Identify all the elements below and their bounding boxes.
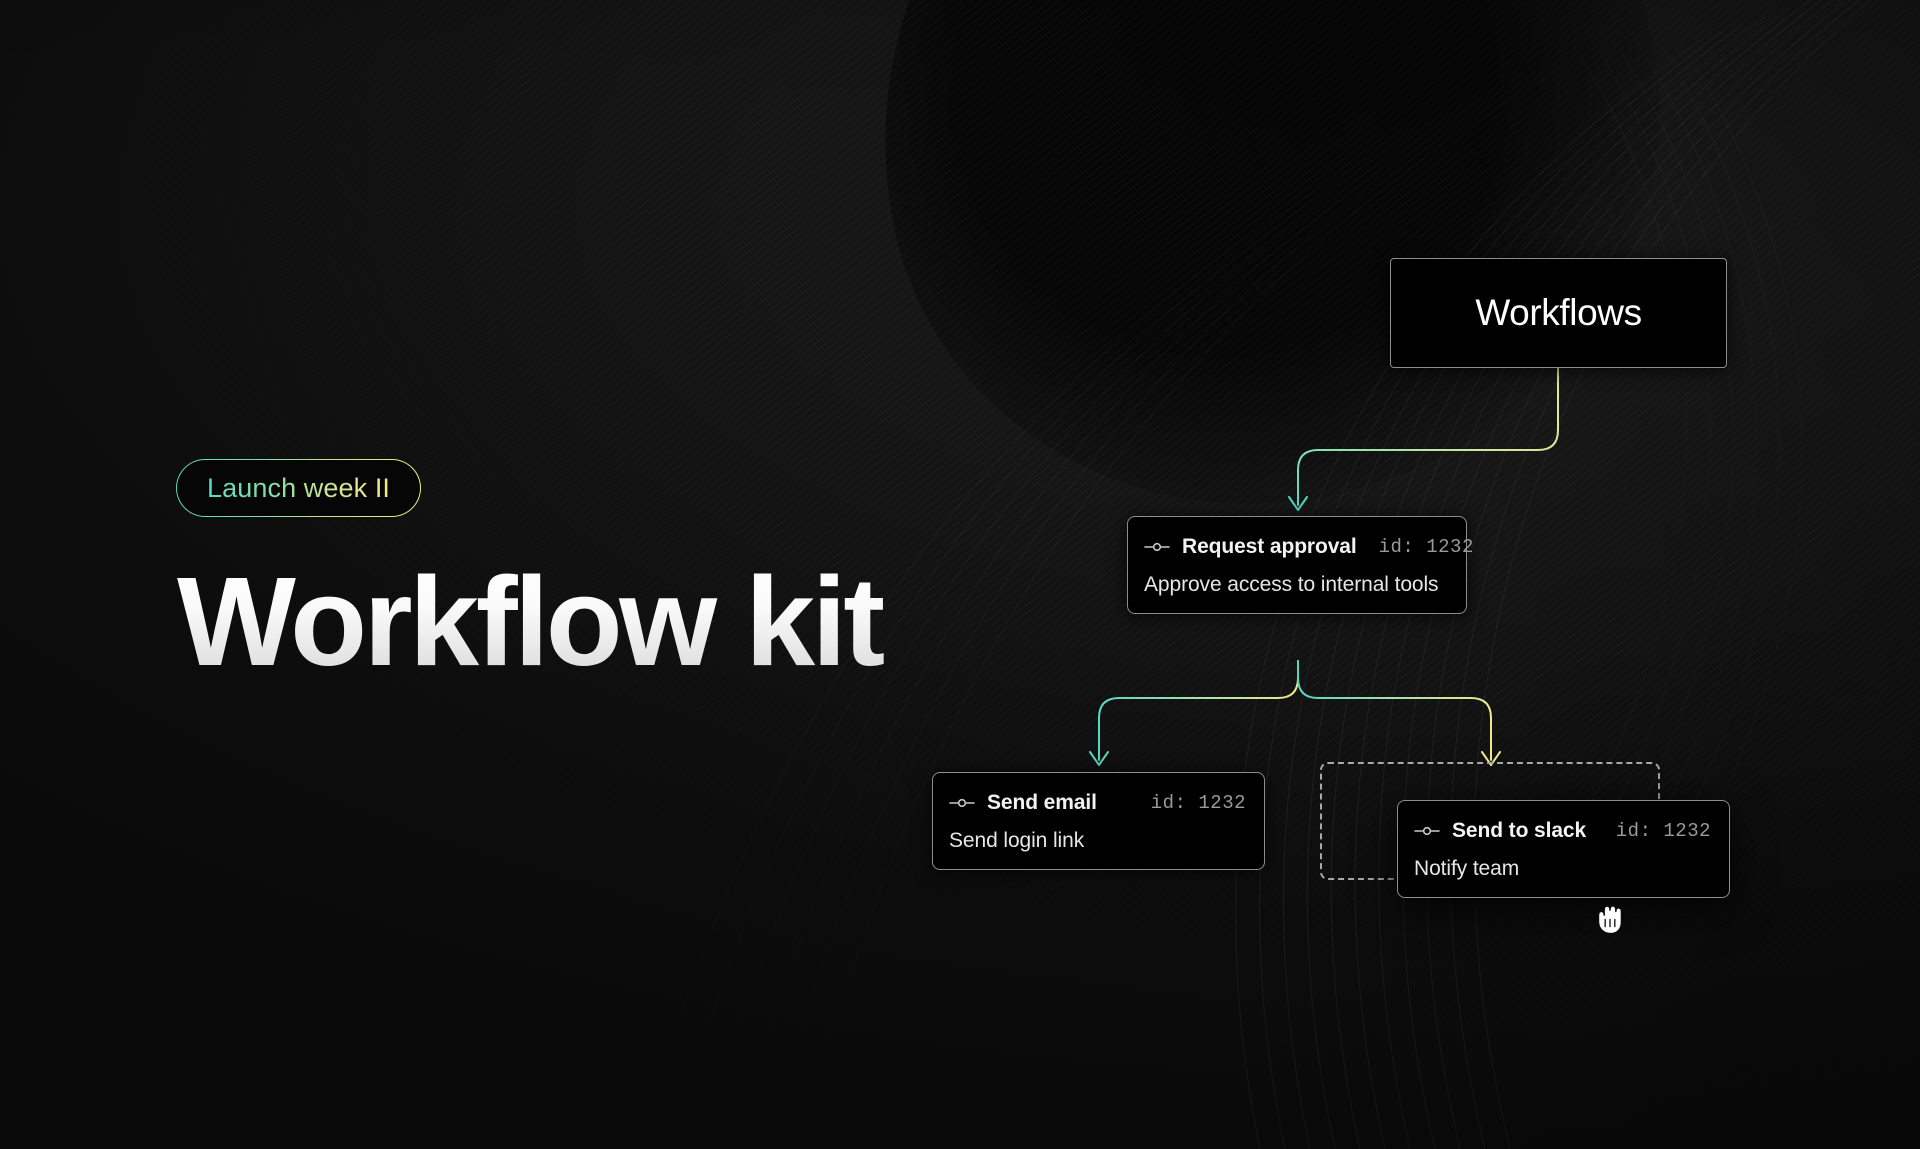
page-root: Launch week II Workflow kit bbox=[0, 0, 1920, 1149]
node-description: Send login link bbox=[949, 829, 1246, 853]
workflow-root-node[interactable]: Workflows bbox=[1390, 258, 1727, 368]
node-id-label: id: 1232 bbox=[1357, 536, 1474, 558]
grabbing-hand-cursor bbox=[1592, 898, 1628, 938]
node-id-label: id: 1232 bbox=[1594, 820, 1711, 842]
node-header: Send to slack id: 1232 bbox=[1414, 815, 1711, 847]
workflow-node-send-email[interactable]: Send email id: 1232 Send login link bbox=[932, 772, 1265, 870]
edge-request-approval-to-send-email bbox=[1090, 661, 1298, 765]
node-connector-icon bbox=[949, 796, 975, 810]
workflow-canvas[interactable]: Workflows Request approval id: 1232 Appr… bbox=[0, 0, 1920, 1149]
edge-workflows-to-request-approval bbox=[1289, 368, 1558, 510]
node-title: Request approval bbox=[1182, 535, 1357, 559]
edge-request-approval-to-send-to-slack bbox=[1298, 661, 1500, 765]
node-title: Send to slack bbox=[1452, 819, 1586, 843]
node-header: Request approval id: 1232 bbox=[1144, 531, 1448, 563]
launch-week-badge[interactable]: Launch week II bbox=[177, 460, 420, 516]
node-connector-icon bbox=[1414, 824, 1440, 838]
workflow-root-title: Workflows bbox=[1475, 292, 1641, 334]
workflow-node-send-to-slack[interactable]: Send to slack id: 1232 Notify team bbox=[1397, 800, 1730, 898]
node-connector-icon bbox=[1144, 540, 1170, 554]
node-description: Approve access to internal tools bbox=[1144, 573, 1448, 597]
workflow-edges bbox=[0, 0, 1920, 1149]
node-description: Notify team bbox=[1414, 857, 1711, 881]
node-id-label: id: 1232 bbox=[1129, 792, 1246, 814]
workflow-node-request-approval[interactable]: Request approval id: 1232 Approve access… bbox=[1127, 516, 1467, 614]
node-title: Send email bbox=[987, 791, 1097, 815]
launch-week-badge-label: Launch week II bbox=[207, 473, 390, 504]
node-header: Send email id: 1232 bbox=[949, 787, 1246, 819]
